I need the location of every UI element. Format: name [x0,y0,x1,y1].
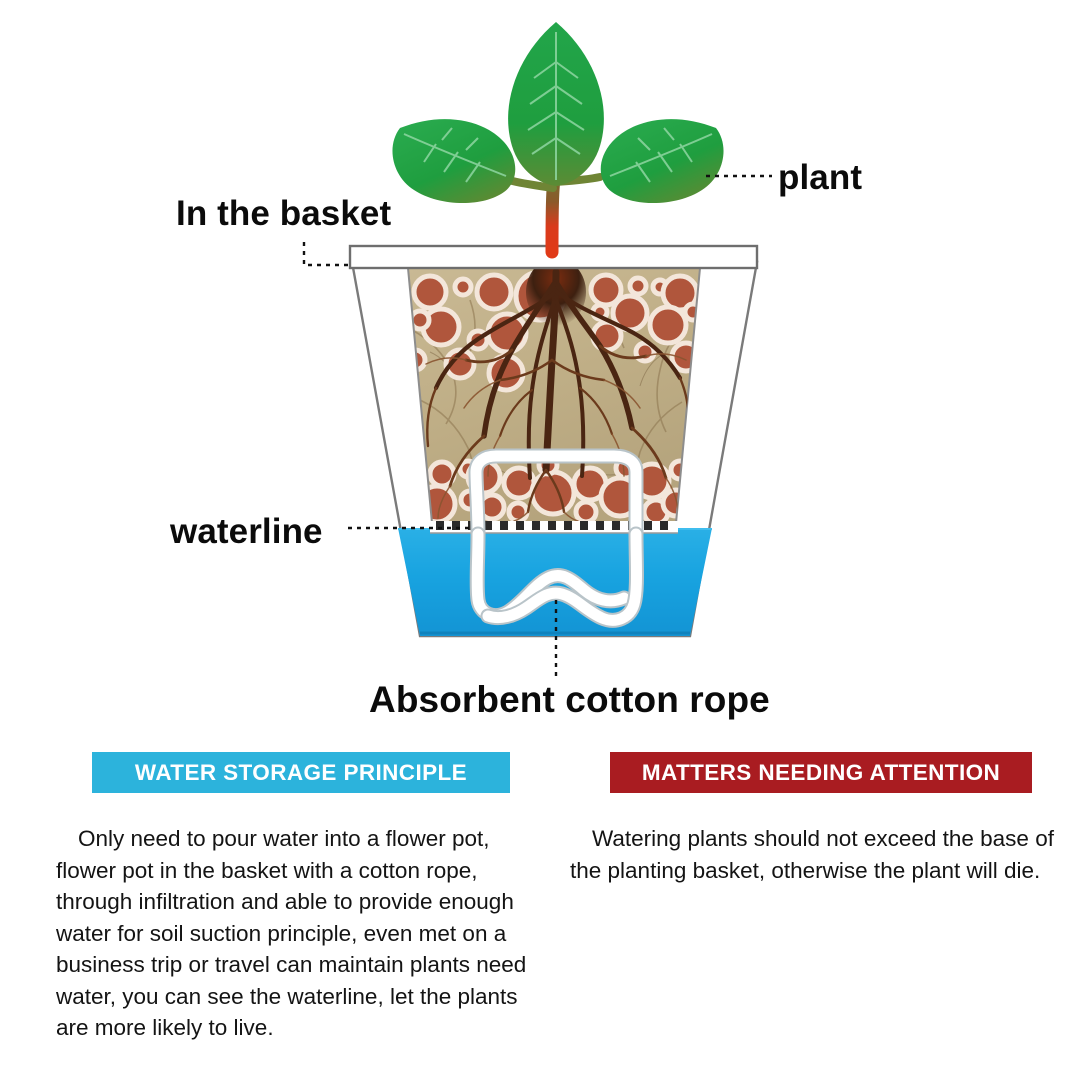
panel-matters-needing-attention: MATTERS NEEDING ATTENTION Watering plant… [566,752,1056,886]
label-plant: plant [778,158,862,198]
flower-pot-diagram: In the basket plant waterline Absorbent … [0,0,1080,750]
label-in-the-basket: In the basket [176,194,391,234]
panel-water-storage-principle: WATER STORAGE PRINCIPLE Only need to pou… [56,752,556,1044]
leaf-left [392,119,515,203]
leaf-right [601,119,724,203]
diagram-svg [0,0,1080,750]
band-water-storage-principle: WATER STORAGE PRINCIPLE [92,752,510,793]
label-waterline: waterline [170,512,323,552]
band-matters-needing-attention: MATTERS NEEDING ATTENTION [610,752,1032,793]
leaf-center [508,22,604,186]
plant [392,22,723,252]
text-water-storage-principle: Only need to pour water into a flower po… [56,823,543,1044]
info-panels: WATER STORAGE PRINCIPLE Only need to pou… [0,752,1080,1080]
clay-pebbles-bottom [0,456,689,524]
soil-and-pebbles [0,268,701,524]
label-absorbent-cotton-rope: Absorbent cotton rope [369,679,770,721]
leader-basket [304,242,352,265]
text-matters-needing-attention: Watering plants should not exceed the ba… [566,823,1062,886]
page-root: In the basket plant waterline Absorbent … [0,0,1080,1080]
